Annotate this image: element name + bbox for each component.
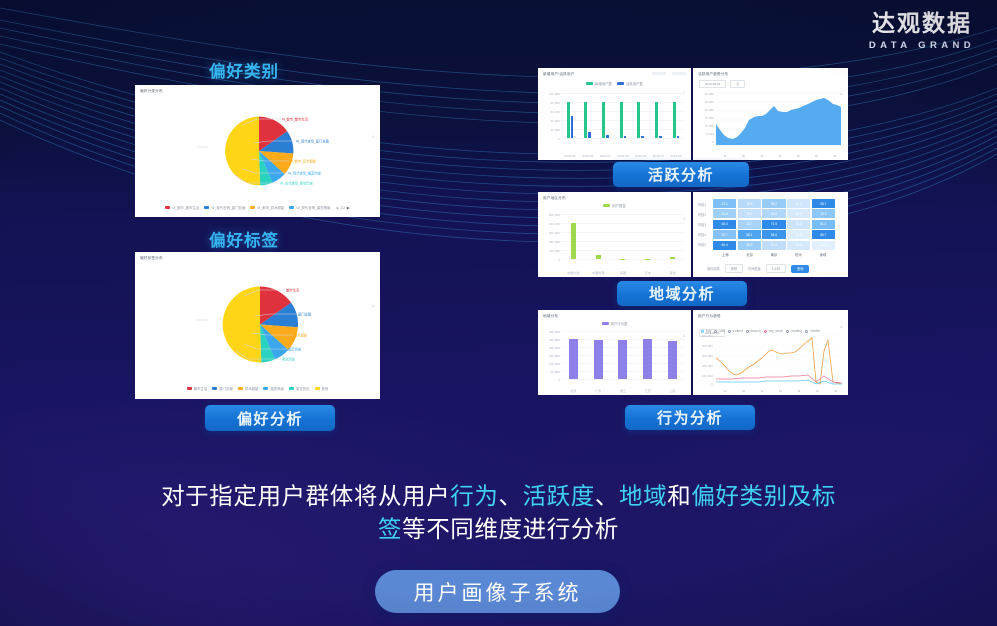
- svg-text:豪门总裁: 豪门总裁: [298, 312, 312, 317]
- brand-name-cn: 达观数据: [869, 12, 975, 36]
- svg-text:W_现代言情_婚恋情缘: W_现代言情_婚恋情缘: [288, 171, 322, 176]
- bar-series: [561, 331, 685, 379]
- pie-leader-lines: 都市生活 豪门总裁 异术超能 婚恋情缘 架空历史 其他: [193, 280, 378, 370]
- chart-toolbar[interactable]: [652, 72, 686, 75]
- legend-item: reading: [786, 329, 802, 333]
- legend-item: M_都市_异术超能: [250, 205, 284, 210]
- heatmap-cell: 12.2: [812, 241, 835, 250]
- brand-logo: 达观数据 DATA GRAND: [869, 12, 975, 51]
- svg-text:W_古代言情_架空历史: W_古代言情_架空历史: [280, 181, 314, 186]
- date-filter-2: [672, 72, 686, 75]
- footer-label: 指标选择: [707, 266, 720, 271]
- heatmap-cell: 22.7: [738, 220, 761, 229]
- heatmap-row-label: 时段4: [698, 232, 706, 237]
- heatmap-col-labels: 上海北京 南京杭州 深圳: [713, 252, 835, 257]
- chart-behavior-trend[interactable]: 用户行为趋势 ⤓ 2019-08-01 buy cart collect sea…: [693, 310, 848, 395]
- chart-title: 偏好标签分布: [140, 256, 163, 261]
- y-axis: 500,000 400,000 300,000 200,000 100,000 …: [694, 310, 714, 395]
- area-chart: [716, 92, 841, 146]
- caption-line-2: 签等不同维度进行分析: [378, 515, 619, 543]
- x-axis: 北京广东 浙江江苏 山东: [561, 388, 685, 393]
- chart-card-behavior[interactable]: 地域分布 ⤓ 用户行为数 300,000 250,000 200,000 150…: [538, 310, 848, 395]
- heatmap-cell: 28.3: [738, 241, 761, 250]
- heatmap-cell: 16.2: [787, 220, 810, 229]
- granularity-select: 日: [730, 80, 745, 88]
- heatmap-row-label: 时段5: [698, 242, 706, 247]
- legend-item: 新增用户数: [586, 81, 612, 86]
- svg-text:都市生活: 都市生活: [286, 288, 300, 293]
- x-axis: 01 05 10 15 20 25 30: [716, 155, 844, 158]
- chart-card-preference-category[interactable]: 偏好分类分布 ⤓ M_都市_都市生活 W: [135, 85, 380, 217]
- heatmap-cell: 58.1: [738, 230, 761, 239]
- title-preference-category: 偏好类别: [209, 58, 279, 82]
- legend-item: 都市生活: [187, 386, 208, 391]
- svg-text:M_都市_都市生活: M_都市_都市生活: [282, 117, 309, 122]
- pill-preference-analysis[interactable]: 偏好分析: [205, 405, 335, 431]
- slide-caption: 对于指定用户群体将从用户行为、活跃度、地域和偏好类别及标 签等不同维度进行分析: [0, 480, 997, 547]
- pill-behavior-analysis[interactable]: 行为分析: [625, 405, 755, 430]
- chart-region-bars[interactable]: 用户地区分布 ⤓ 用户数量 500,000 400,000 300,000 20…: [538, 192, 691, 277]
- legend-item: search: [746, 329, 761, 333]
- heatmap-row-label: 时段1: [698, 202, 706, 207]
- svg-text:架空历史: 架空历史: [282, 357, 296, 362]
- heatmap-cell: 32.1: [713, 199, 736, 208]
- legend-item: collect: [728, 329, 743, 333]
- legend-item: 豪门总裁: [212, 386, 233, 391]
- chart-region-heatmap[interactable]: 时段1 时段2 时段3 时段4 时段5 32.1 18.5 45.2 12.3 …: [693, 192, 848, 277]
- svg-text:W_现代言情_豪门总裁: W_现代言情_豪门总裁: [296, 139, 330, 144]
- chart-legend[interactable]: M_都市_都市生活 W_现代言情_豪门总裁 M_都市_异术超能 W_现代言情_婚…: [135, 205, 380, 210]
- legend-item: 架空历史: [289, 386, 310, 391]
- heatmap-footer[interactable]: 指标选择 省份 时间粒度 1小时 查询: [707, 264, 809, 273]
- heatmap-cell: 85.7: [812, 230, 835, 239]
- y-axis: 500,000 400,000 300,000 200,000 100,000 …: [541, 192, 561, 277]
- pill-region-analysis[interactable]: 地域分析: [617, 281, 747, 306]
- heatmap-cell: 24.8: [762, 209, 785, 218]
- svg-text:M_都市_异术超能: M_都市_异术超能: [290, 159, 317, 164]
- heatmap-grid[interactable]: 32.1 18.5 45.2 12.3 58.7 21.4 15.2 24.8 …: [713, 199, 835, 250]
- heatmap-cell: 10.1: [787, 209, 810, 218]
- chart-new-active-users[interactable]: 新增用户/活跃用户 ⤓ 新增用户数 活跃用户数 100,000 80,000 6…: [538, 68, 691, 160]
- pill-active-analysis[interactable]: 活跃分析: [613, 162, 749, 187]
- highlight-active: 活跃度: [523, 482, 595, 510]
- chart-legend[interactable]: buy cart collect search my_store reading…: [701, 329, 848, 333]
- legend-item: 婚恋情缘: [263, 386, 284, 391]
- heatmap-cell: 51.1: [812, 220, 835, 229]
- brand-name-en: DATA GRAND: [869, 40, 975, 51]
- legend-item: 用户行为数: [602, 321, 628, 326]
- y-axis: 300,000 250,000 200,000 150,000 100,000 …: [541, 310, 561, 395]
- chart-behavior-bars[interactable]: 地域分布 ⤓ 用户行为数 300,000 250,000 200,000 150…: [538, 310, 691, 395]
- legend-item: W_现代言情_婚恋情缘: [289, 205, 330, 210]
- heatmap-cell: 71.5: [762, 220, 785, 229]
- svg-text:婚恋情缘: 婚恋情缘: [288, 347, 302, 352]
- x-axis: 2019-022019-03 2019-042019-05 2019-06201…: [561, 154, 685, 158]
- heatmap-cell: 54.6: [762, 230, 785, 239]
- legend-item: 其他: [315, 386, 329, 391]
- line-chart: [716, 334, 842, 386]
- svg-text:异术超能: 异术超能: [294, 333, 308, 338]
- title-preference-tag: 偏好标签: [209, 227, 279, 251]
- heatmap-cell: 14.6: [787, 241, 810, 250]
- x-axis: 中国大陆中国香港 美国日本 其他: [561, 270, 685, 275]
- y-axis: 100,000 80,000 60,000 40,000 20,000 0: [541, 68, 561, 160]
- heatmap-cell: 66.4: [713, 241, 736, 250]
- highlight-region: 地域: [619, 482, 667, 510]
- bar-series: [561, 93, 685, 138]
- footer-label-2: 时间粒度: [748, 266, 761, 271]
- legend-item: 用户数量: [603, 203, 626, 208]
- chart-legend[interactable]: 都市生活 豪门总裁 异术超能 婚恋情缘 架空历史 其他: [135, 386, 380, 391]
- highlight-tag: 签: [378, 515, 402, 543]
- heatmap-cell: 45.2: [762, 199, 785, 208]
- granularity-select[interactable]: 1小时: [766, 264, 786, 273]
- chart-card-active[interactable]: 新增用户/活跃用户 ⤓ 新增用户数 活跃用户数 100,000 80,000 6…: [538, 68, 848, 160]
- heatmap-cell: 21.4: [713, 209, 736, 218]
- slide-root: 达观数据 DATA GRAND 偏好类别 偏好标签 偏好分类分布 ⤓: [0, 0, 997, 626]
- chart-card-preference-tag[interactable]: 偏好标签分布 ⤓ 都市生活 豪门总裁: [135, 252, 380, 399]
- legend-item: my_store: [764, 329, 783, 333]
- legend-pagination[interactable]: ◀ 1/2 ▶: [335, 206, 349, 210]
- legend-item: W_现代言情_豪门总裁: [204, 205, 245, 210]
- chart-title: 偏好分类分布: [140, 89, 163, 94]
- heatmap-cell: 30.7: [713, 230, 736, 239]
- legend-item: 异术超能: [238, 386, 259, 391]
- bar-series: [561, 214, 685, 259]
- legend-item: M_都市_都市生活: [165, 205, 199, 210]
- x-axis: 01 05 10 15 20 25 30: [716, 390, 845, 393]
- y-axis: 30,000 25,000 20,000 15,000 10,000 5,000…: [695, 68, 715, 160]
- query-button[interactable]: 查询: [791, 265, 809, 273]
- heatmap-cell: 18.5: [738, 199, 761, 208]
- pie-leader-lines: M_都市_都市生活 W_现代言情_豪门总裁 M_都市_异术超能 W_现代言情_婚…: [195, 111, 375, 193]
- heatmap-cell: 15.2: [738, 209, 761, 218]
- heatmap-row-label: 时段2: [698, 212, 706, 217]
- highlight-preference: 偏好类别及标: [691, 482, 836, 510]
- caption-line-1: 对于指定用户群体将从用户行为、活跃度、地域和偏好类别及标: [161, 482, 836, 510]
- heatmap-row-label: 时段3: [698, 222, 706, 227]
- heatmap-cell: 12.3: [787, 199, 810, 208]
- highlight-behavior: 行为: [450, 482, 498, 510]
- legend-item: shelter: [805, 329, 820, 333]
- bottom-pill-user-profile-system[interactable]: 用户画像子系统: [375, 570, 620, 613]
- date-filter-1: [652, 72, 666, 75]
- heatmap-cell: 19.3: [812, 209, 835, 218]
- heatmap-cell: 68.4: [713, 220, 736, 229]
- heatmap-cell: 20.5: [762, 241, 785, 250]
- heatmap-cell: 58.7: [812, 199, 835, 208]
- chart-active-trend[interactable]: 活跃用户趋势分布 ⤓ 2019-08-01 日 30,000 25,000 20…: [693, 68, 848, 160]
- download-icon[interactable]: ⤓: [840, 323, 842, 328]
- legend-item: cart: [714, 329, 725, 333]
- legend-item: 活跃用户数: [617, 81, 643, 86]
- heatmap-cell: 11.8: [787, 230, 810, 239]
- chart-card-region[interactable]: 用户地区分布 ⤓ 用户数量 500,000 400,000 300,000 20…: [538, 192, 848, 277]
- province-select[interactable]: 省份: [725, 264, 743, 273]
